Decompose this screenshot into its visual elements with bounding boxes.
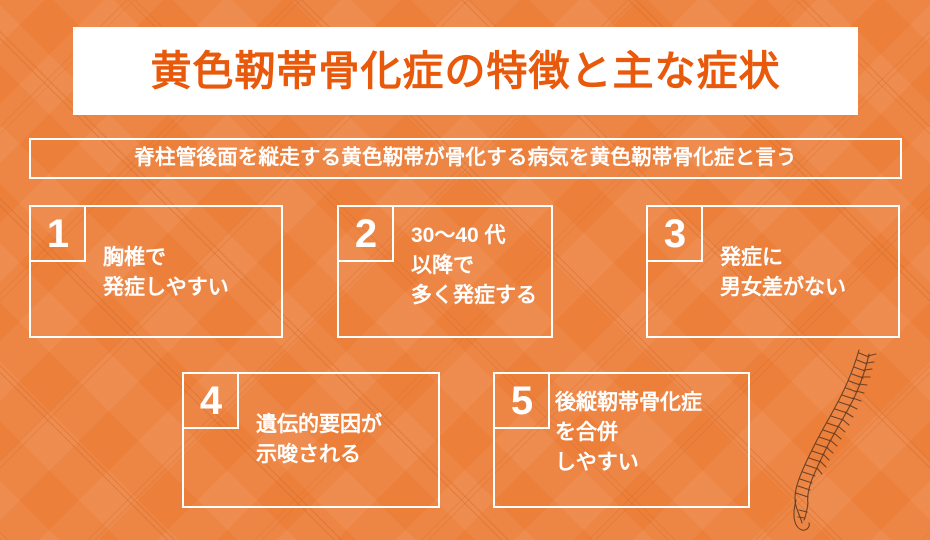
feature-card-4: 4 遺伝的要因が 示唆される [182, 372, 440, 508]
card-text-2: 30〜40 代 以降で 多く発症する [411, 221, 537, 310]
card-number-badge-2: 2 [337, 205, 394, 262]
card-number-3: 3 [664, 214, 685, 254]
page-subtitle: 脊柱管後面を縦走する黄色靭帯が骨化する病気を黄色靭帯骨化症と言う [134, 148, 796, 169]
card-text-5: 後縦靭帯骨化症 を合併 しやすい [555, 388, 702, 477]
card-number-badge-5: 5 [493, 372, 550, 429]
subtitle-banner: 脊柱管後面を縦走する黄色靭帯が骨化する病気を黄色靭帯骨化症と言う [29, 138, 902, 179]
card-number-5: 5 [511, 381, 532, 421]
card-text-4: 遺伝的要因が 示唆される [256, 410, 382, 470]
title-banner: 黄色靭帯骨化症の特徴と主な症状 [73, 27, 858, 115]
feature-card-2: 2 30〜40 代 以降で 多く発症する [337, 205, 553, 338]
card-number-badge-4: 4 [182, 372, 239, 429]
page-title: 黄色靭帯骨化症の特徴と主な症状 [151, 51, 781, 92]
card-number-4: 4 [200, 381, 221, 421]
card-text-1: 胸椎で 発症しやすい [103, 243, 229, 303]
card-number-2: 2 [355, 214, 376, 254]
feature-card-1: 1 胸椎で 発症しやすい [29, 205, 283, 338]
infographic-poster: 黄色靭帯骨化症の特徴と主な症状 脊柱管後面を縦走する黄色靭帯が骨化する病気を黄色… [0, 0, 930, 540]
feature-card-3: 3 発症に 男女差がない [646, 205, 900, 338]
card-number-badge-3: 3 [646, 205, 703, 262]
card-number-badge-1: 1 [29, 205, 86, 262]
card-number-1: 1 [47, 214, 68, 254]
spine-illustration [775, 340, 900, 535]
card-text-3: 発症に 男女差がない [720, 243, 846, 303]
feature-card-5: 5 後縦靭帯骨化症 を合併 しやすい [493, 372, 750, 508]
